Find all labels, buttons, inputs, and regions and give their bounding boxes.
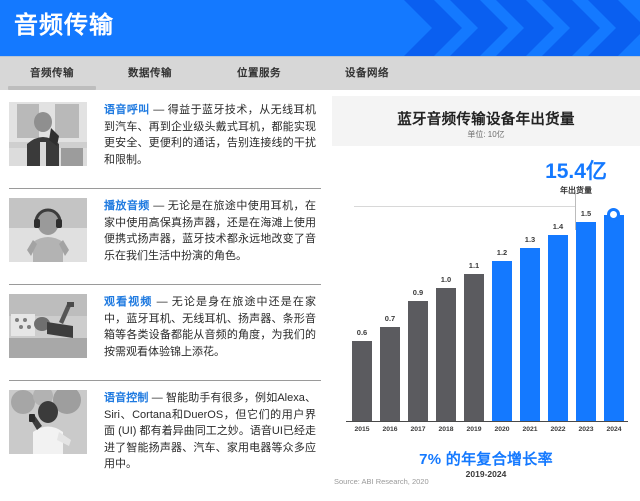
tab-audio-transmission[interactable]: 音频传输 bbox=[30, 65, 74, 80]
story-divider bbox=[9, 188, 321, 189]
bar-value-label: 1.2 bbox=[486, 248, 518, 257]
story-text: 观看视频 — 无论是身在旅途中还是在家中，蓝牙耳机、无线耳机、扬声器、条形音箱等… bbox=[104, 294, 316, 360]
bar-2019: 1.1 2019 bbox=[464, 274, 484, 421]
bar-rect bbox=[604, 215, 624, 421]
tab-active-indicator bbox=[8, 86, 96, 90]
stories-column: 语音呼叫 — 得益于蓝牙技术，从无线耳机到汽车、再到企业级头戴式耳机，都能实现更… bbox=[0, 96, 330, 501]
bar-2022: 1.4 2022 bbox=[548, 235, 568, 421]
chevron-decoration bbox=[390, 0, 640, 56]
bar-rect bbox=[464, 274, 484, 421]
tab-location-services[interactable]: 位置服务 bbox=[237, 65, 281, 80]
man-outdoors-with-phone-photo bbox=[9, 390, 87, 454]
tab-device-network[interactable]: 设备网络 bbox=[345, 65, 389, 80]
person-on-couch-with-tablet-photo bbox=[9, 294, 87, 358]
bar-rect bbox=[548, 235, 568, 421]
story-lead: 播放音频 bbox=[104, 200, 150, 212]
bar-rect bbox=[408, 301, 428, 421]
bar-2023: 1.5 2023 bbox=[576, 222, 596, 421]
bar-value-label: 0.6 bbox=[346, 328, 378, 337]
bar-rect bbox=[492, 261, 512, 421]
bar-2018: 1.0 2018 bbox=[436, 288, 456, 421]
bar-value-label: 1.5 bbox=[570, 209, 602, 218]
tab-data-transmission[interactable]: 数据传输 bbox=[128, 65, 172, 80]
bar-chart-plot: 0.6 2015 0.7 2016 0.9 2017 1.0 2018 1.1 bbox=[346, 214, 628, 440]
chevron-right-icon bbox=[586, 0, 640, 56]
bar-rect bbox=[520, 248, 540, 421]
bar-rect bbox=[436, 288, 456, 421]
story-text: 播放音频 — 无论是在旅途中使用耳机，在家中使用高保真扬声器，还是在海滩上使用便… bbox=[104, 198, 316, 264]
bar-2016: 0.7 2016 bbox=[380, 327, 400, 421]
page-title: 音频传输 bbox=[14, 11, 114, 41]
bar-rect bbox=[352, 341, 372, 421]
source-attribution: Source: ABI Research, 2020 bbox=[334, 477, 429, 486]
story-lead: 语音控制 bbox=[104, 392, 149, 404]
callout-label: 年出货量 bbox=[528, 185, 624, 196]
bar-rect bbox=[380, 327, 400, 421]
bar-value-label: 1.1 bbox=[458, 261, 490, 270]
page-header: 音频传输 bbox=[0, 0, 640, 56]
bar-value-label: 1.4 bbox=[542, 222, 574, 231]
nav-top-divider bbox=[0, 56, 640, 57]
x-axis-line bbox=[346, 421, 628, 422]
story-text: 语音呼叫 — 得益于蓝牙技术，从无线耳机到汽车、再到企业级头戴式耳机，都能实现更… bbox=[104, 102, 316, 168]
chart-callout: 15.4亿 年出货量 bbox=[528, 160, 624, 196]
bar-2021: 1.3 2021 bbox=[520, 248, 540, 421]
nav-bar: 音频传输 数据传输 位置服务 设备网络 bbox=[0, 56, 640, 90]
bar-2017: 0.9 2017 bbox=[408, 301, 428, 421]
cagr-text: 7% 的年复合增长率 bbox=[332, 448, 640, 469]
bar-category-label: 2024 bbox=[597, 426, 631, 433]
woman-with-headphones-photo bbox=[9, 198, 87, 262]
chart-title: 蓝牙音频传输设备年出货量 bbox=[332, 108, 640, 129]
bar-value-label: 0.7 bbox=[374, 314, 406, 323]
callout-horizontal-rule bbox=[354, 206, 576, 207]
story-text: 语音控制 — 智能助手有很多，例如Alexa、Siri、Cortana和Duer… bbox=[104, 390, 316, 473]
chart-panel: 蓝牙音频传输设备年出货量 单位: 10亿 15.4亿 年出货量 0.6 2015… bbox=[332, 96, 640, 501]
highlight-marker-icon bbox=[607, 208, 620, 221]
callout-value: 15.4亿 bbox=[528, 160, 624, 184]
story-divider bbox=[9, 284, 321, 285]
story-lead: 观看视频 bbox=[104, 296, 152, 308]
bar-value-label: 1.3 bbox=[514, 235, 546, 244]
bar-value-label: 0.9 bbox=[402, 288, 434, 297]
bar-2020: 1.2 2020 bbox=[492, 261, 512, 421]
bar-2015: 0.6 2015 bbox=[352, 341, 372, 421]
chart-subtitle: 单位: 10亿 bbox=[332, 129, 640, 140]
bar-rect bbox=[576, 222, 596, 421]
bar-2024: 2024 bbox=[604, 215, 624, 421]
story-lead: 语音呼叫 bbox=[104, 104, 150, 116]
bar-value-label: 1.0 bbox=[430, 275, 462, 284]
infographic-page: 音频传输 音频传输 数据传输 位置服务 设备网络 bbox=[0, 0, 640, 501]
story-divider bbox=[9, 380, 321, 381]
businessman-on-phone-photo bbox=[9, 102, 87, 166]
